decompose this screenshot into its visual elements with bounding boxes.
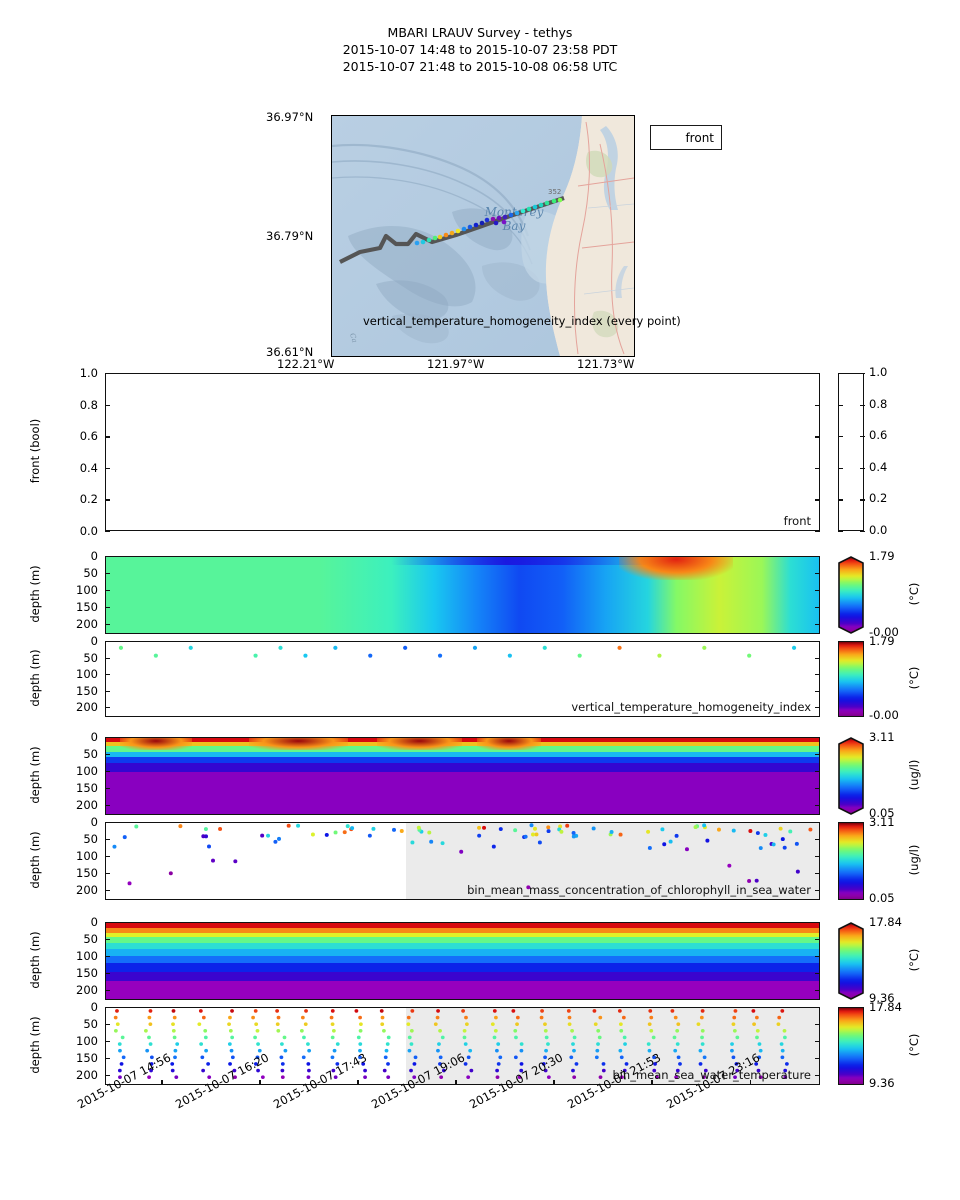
chart-title: MBARI LRAUV Survey - tethys 2015-10-07 1…	[0, 24, 960, 75]
ytickmark-temp-scatter-2	[105, 1041, 110, 1042]
colorbar-max-chl-contour: 3.11	[869, 730, 895, 744]
ytick-vthi-contour-0: 0	[52, 549, 98, 563]
ytickmark-front-bool-1	[105, 405, 110, 406]
ytick-chl-scatter-0: 0	[52, 815, 98, 829]
ytick-vthi-scatter-0: 0	[52, 634, 98, 648]
colorbar-body	[838, 373, 864, 531]
ytickmark-chl-contour-0	[105, 737, 110, 738]
colorbar-tickmark-front-bool-2	[860, 436, 865, 437]
panel-chl-scatter[interactable]: bin_mean_mass_concentration_of_chlorophy…	[105, 822, 820, 900]
ytickmark-right-temp-contour-4	[815, 990, 820, 991]
map-lon-tick-1: 121.97°W	[427, 357, 484, 371]
ytickmark-chl-contour-4	[105, 805, 110, 806]
ytickmark-right-vthi-scatter-3	[815, 691, 820, 692]
map-legend[interactable]: front	[650, 125, 722, 150]
xtickmark-0	[161, 1080, 162, 1085]
colorbar-max-chl-scatter: 3.11	[869, 815, 895, 829]
colorbar-tickmark-front-bool-5	[860, 531, 865, 532]
ytickmark-temp-contour-2	[105, 956, 110, 957]
ytickmark-chl-scatter-3	[105, 873, 110, 874]
colorbar-unit-vthi-scatter: (°C)	[907, 643, 921, 713]
colorbar-tickmark-front-bool-0	[860, 373, 865, 374]
ytickmark-right-chl-scatter-4	[815, 890, 820, 891]
map-caption: vertical_temperature_homogeneity_index (…	[363, 314, 923, 328]
ytickmark-right-temp-contour-0	[815, 922, 820, 923]
ytickmark-vthi-scatter-2	[105, 674, 110, 675]
ytickmark-right-vthi-scatter-1	[815, 658, 820, 659]
ytickmark-right-vthi-contour-1	[815, 573, 820, 574]
panel-chl-contour[interactable]	[105, 737, 820, 815]
ytick-chl-scatter-4: 200	[52, 883, 98, 897]
colorbar-unit-chl-contour: (ug/l)	[907, 740, 921, 810]
ytick-temp-scatter-2: 100	[52, 1034, 98, 1048]
ytickmark-right-front-bool-3	[815, 468, 820, 469]
map-legend-label: front	[685, 131, 714, 145]
xtickmark-3	[455, 1080, 456, 1085]
ytick-front-bool-1: 0.8	[52, 398, 98, 412]
ytick-front-bool-0: 1.0	[52, 366, 98, 380]
panel-note-vthi-scatter: vertical_temperature_homogeneity_index	[571, 700, 811, 714]
ytickmark-vthi-contour-0	[105, 556, 110, 557]
ytickmark-right-front-bool-1	[815, 405, 820, 406]
ytickmark-temp-contour-1	[105, 939, 110, 940]
ylabel-chl-contour: depth (m)	[28, 736, 42, 814]
colorbar-tickmark-front-bool-1	[860, 405, 865, 406]
ytick-front-bool-3: 0.4	[52, 461, 98, 475]
ytick-vthi-scatter-4: 200	[52, 700, 98, 714]
ytickmark-right-chl-contour-4	[815, 805, 820, 806]
ytickmark-right-chl-scatter-2	[815, 856, 820, 857]
colorbar-min-vthi-scatter: -0.00	[869, 708, 899, 722]
chl-hotspot-2	[377, 738, 463, 750]
ytickmark-right-chl-contour-3	[815, 788, 820, 789]
ytickmark-right-chl-contour-2	[815, 771, 820, 772]
ytickmark-right-front-bool-4	[815, 499, 820, 500]
ytickmark-chl-scatter-1	[105, 839, 110, 840]
ytickmark-vthi-scatter-4	[105, 707, 110, 708]
panel-note-chl-scatter: bin_mean_mass_concentration_of_chlorophy…	[467, 883, 811, 897]
ytickmark-right-vthi-contour-2	[815, 590, 820, 591]
ytickmark-chl-scatter-4	[105, 890, 110, 891]
ytickmark-right-temp-scatter-0	[815, 1007, 820, 1008]
colorbar-vthi-contour[interactable]	[838, 556, 864, 634]
ylabel-vthi-contour: depth (m)	[28, 555, 42, 633]
ytickmark-right-vthi-contour-3	[815, 607, 820, 608]
colorbar-max-vthi-contour: 1.79	[869, 549, 895, 563]
ytick-vthi-contour-1: 50	[52, 566, 98, 580]
ytick-chl-contour-1: 50	[52, 747, 98, 761]
colorbar-tickmark-left-front-bool-2	[838, 436, 843, 437]
ytickmark-front-bool-0	[105, 373, 110, 374]
colorbar-body	[838, 822, 864, 900]
ytick-vthi-scatter-2: 100	[52, 667, 98, 681]
colorbar-vthi-scatter[interactable]	[838, 641, 864, 717]
ytickmark-right-temp-contour-2	[815, 956, 820, 957]
ytickmark-temp-contour-4	[105, 990, 110, 991]
ytickmark-chl-scatter-0	[105, 822, 110, 823]
panel-vthi-contour[interactable]	[105, 556, 820, 634]
xtickmark-4	[553, 1080, 554, 1085]
contour-field	[106, 557, 819, 633]
ylabel-temp-scatter: depth (m)	[28, 1006, 42, 1084]
ytickmark-vthi-contour-1	[105, 573, 110, 574]
ytickmark-front-bool-3	[105, 468, 110, 469]
ytickmark-right-chl-scatter-0	[815, 822, 820, 823]
ylabel-chl-scatter: depth (m)	[28, 821, 42, 899]
ytickmark-vthi-scatter-3	[105, 691, 110, 692]
colorbar-tick-front-bool-4: 0.2	[869, 491, 887, 505]
colorbar-temp-scatter[interactable]	[838, 1007, 864, 1085]
panel-note-front-bool: front	[784, 514, 811, 528]
ytick-front-bool-5: 0.0	[52, 524, 98, 538]
ytickmark-right-vthi-scatter-0	[815, 641, 820, 642]
colorbar-min-temp-scatter: 9.36	[869, 1076, 895, 1090]
ytickmark-front-bool-2	[105, 436, 110, 437]
colorbar-tickmark-front-bool-3	[860, 468, 865, 469]
panel-vthi-scatter[interactable]: vertical_temperature_homogeneity_index	[105, 641, 820, 717]
colorbar-max-temp-scatter: 17.84	[869, 1000, 902, 1014]
ytickmark-chl-contour-3	[105, 788, 110, 789]
ytickmark-vthi-contour-2	[105, 590, 110, 591]
map-lat-tick-0: 36.97°N	[266, 110, 313, 124]
xtickmark-2	[357, 1080, 358, 1085]
ytick-temp-contour-1: 50	[52, 932, 98, 946]
xtickmark-1	[259, 1080, 260, 1085]
ytick-temp-contour-0: 0	[52, 915, 98, 929]
ytick-temp-scatter-4: 200	[52, 1068, 98, 1082]
ytick-chl-contour-4: 200	[52, 798, 98, 812]
ytick-vthi-contour-3: 150	[52, 600, 98, 614]
ytickmark-right-temp-contour-3	[815, 973, 820, 974]
ytickmark-right-temp-scatter-3	[815, 1058, 820, 1059]
panel-temp-scatter[interactable]: bin_mean_sea_water_temperature	[105, 1007, 820, 1085]
ytick-temp-scatter-3: 150	[52, 1051, 98, 1065]
ytickmark-right-temp-scatter-4	[815, 1075, 820, 1076]
colorbar-tickmark-left-front-bool-4	[838, 499, 843, 500]
colorbar-unit-vthi-contour: (°C)	[907, 559, 921, 629]
colorbar-chl-scatter[interactable]	[838, 822, 864, 900]
ytick-chl-contour-2: 100	[52, 764, 98, 778]
ytickmark-right-front-bool-2	[815, 436, 820, 437]
title-line-1: MBARI LRAUV Survey - tethys	[0, 24, 960, 41]
colorbar-max-vthi-scatter: 1.79	[869, 634, 895, 648]
colorbar-tick-front-bool-2: 0.6	[869, 428, 887, 442]
chl-hotspot-0	[120, 738, 191, 750]
ytickmark-temp-contour-0	[105, 922, 110, 923]
colorbar-tickmark-front-bool-4	[860, 499, 865, 500]
ytickmark-right-vthi-contour-4	[815, 624, 820, 625]
ytick-temp-scatter-1: 50	[52, 1017, 98, 1031]
ytickmark-vthi-contour-4	[105, 624, 110, 625]
ytickmark-chl-contour-2	[105, 771, 110, 772]
ytickmark-right-chl-contour-1	[815, 754, 820, 755]
panel-note-temp-scatter: bin_mean_sea_water_temperature	[612, 1068, 811, 1082]
ytick-temp-contour-2: 100	[52, 949, 98, 963]
colorbar-temp-contour[interactable]	[838, 922, 864, 1000]
colorbar-tickmark-left-front-bool-3	[838, 468, 843, 469]
colorbar-body	[838, 1007, 864, 1085]
ytick-chl-scatter-1: 50	[52, 832, 98, 846]
ytick-temp-contour-3: 150	[52, 966, 98, 980]
colorbar-tickmark-left-front-bool-5	[838, 531, 843, 532]
ytick-front-bool-4: 0.2	[52, 492, 98, 506]
ytick-chl-contour-3: 150	[52, 781, 98, 795]
contour-field	[106, 923, 819, 999]
ytick-vthi-contour-4: 200	[52, 617, 98, 631]
ytick-vthi-scatter-1: 50	[52, 651, 98, 665]
ytick-vthi-contour-2: 100	[52, 583, 98, 597]
ytick-temp-contour-4: 200	[52, 983, 98, 997]
colorbar-max-temp-contour: 17.84	[869, 915, 902, 929]
ytick-chl-scatter-2: 100	[52, 849, 98, 863]
colorbar-tick-front-bool-1: 0.8	[869, 397, 887, 411]
ylabel-vthi-scatter: depth (m)	[28, 640, 42, 716]
colorbar-unit-chl-scatter: (ug/l)	[907, 825, 921, 895]
map-lat-tick-1: 36.79°N	[266, 229, 313, 243]
ytick-vthi-scatter-3: 150	[52, 684, 98, 698]
ytick-front-bool-2: 0.6	[52, 429, 98, 443]
colorbar-unit-temp-scatter: (°C)	[907, 1010, 921, 1080]
ytick-chl-contour-0: 0	[52, 730, 98, 744]
colorbar-tickmark-left-front-bool-0	[838, 373, 843, 374]
surface-band	[391, 557, 648, 565]
colorbar-tick-front-bool-5: 0.0	[869, 523, 887, 537]
ytickmark-right-chl-contour-0	[815, 737, 820, 738]
ytickmark-front-bool-5	[105, 531, 110, 532]
ytickmark-right-temp-scatter-1	[815, 1024, 820, 1025]
colorbar-tick-front-bool-0: 1.0	[869, 365, 887, 379]
chl-hotspot-3	[477, 738, 541, 750]
contour-field	[106, 738, 819, 814]
ytickmark-right-vthi-scatter-4	[815, 707, 820, 708]
ytickmark-right-vthi-scatter-2	[815, 674, 820, 675]
ytickmark-right-temp-contour-1	[815, 939, 820, 940]
map-lon-tick-2: 121.73°W	[577, 357, 634, 371]
ytickmark-right-chl-scatter-3	[815, 873, 820, 874]
panel-front-bool[interactable]: front	[105, 373, 820, 531]
ytickmark-temp-scatter-1	[105, 1024, 110, 1025]
ytickmark-right-front-bool-0	[815, 373, 820, 374]
colorbar-unit-temp-contour: (°C)	[907, 925, 921, 995]
colorbar-body	[838, 641, 864, 717]
colorbar-tickmark-left-front-bool-1	[838, 405, 843, 406]
ytickmark-right-front-bool-5	[815, 531, 820, 532]
ytick-chl-scatter-3: 150	[52, 866, 98, 880]
ytickmark-right-vthi-contour-0	[815, 556, 820, 557]
ytickmark-vthi-scatter-0	[105, 641, 110, 642]
ytickmark-temp-scatter-3	[105, 1058, 110, 1059]
temp-layer-9	[106, 981, 819, 1000]
colorbar-chl-contour[interactable]	[838, 737, 864, 815]
title-line-3: 2015-10-07 21:48 to 2015-10-08 06:58 UTC	[0, 58, 960, 75]
chl-hotspot-1	[249, 738, 349, 750]
ytick-temp-scatter-0: 0	[52, 1000, 98, 1014]
ytickmark-right-chl-scatter-1	[815, 839, 820, 840]
ytickmark-temp-scatter-4	[105, 1075, 110, 1076]
chl-layer-5	[106, 763, 819, 772]
ytickmark-vthi-scatter-1	[105, 658, 110, 659]
ytickmark-chl-contour-1	[105, 754, 110, 755]
ytickmark-vthi-contour-3	[105, 607, 110, 608]
ytickmark-right-temp-scatter-2	[815, 1041, 820, 1042]
panel-temp-contour[interactable]	[105, 922, 820, 1000]
colorbar-front-bool[interactable]	[838, 373, 864, 531]
map-lon-tick-0: 122.21°W	[277, 357, 334, 371]
colorbar-min-chl-scatter: 0.05	[869, 891, 895, 905]
ylabel-temp-contour: depth (m)	[28, 921, 42, 999]
ytickmark-temp-scatter-0	[105, 1007, 110, 1008]
ylabel-front-bool: front (bool)	[28, 372, 42, 530]
ytickmark-chl-scatter-2	[105, 856, 110, 857]
ytickmark-front-bool-4	[105, 499, 110, 500]
colorbar-tick-front-bool-3: 0.4	[869, 460, 887, 474]
ytickmark-temp-contour-3	[105, 973, 110, 974]
title-line-2: 2015-10-07 14:48 to 2015-10-07 23:58 PDT	[0, 41, 960, 58]
